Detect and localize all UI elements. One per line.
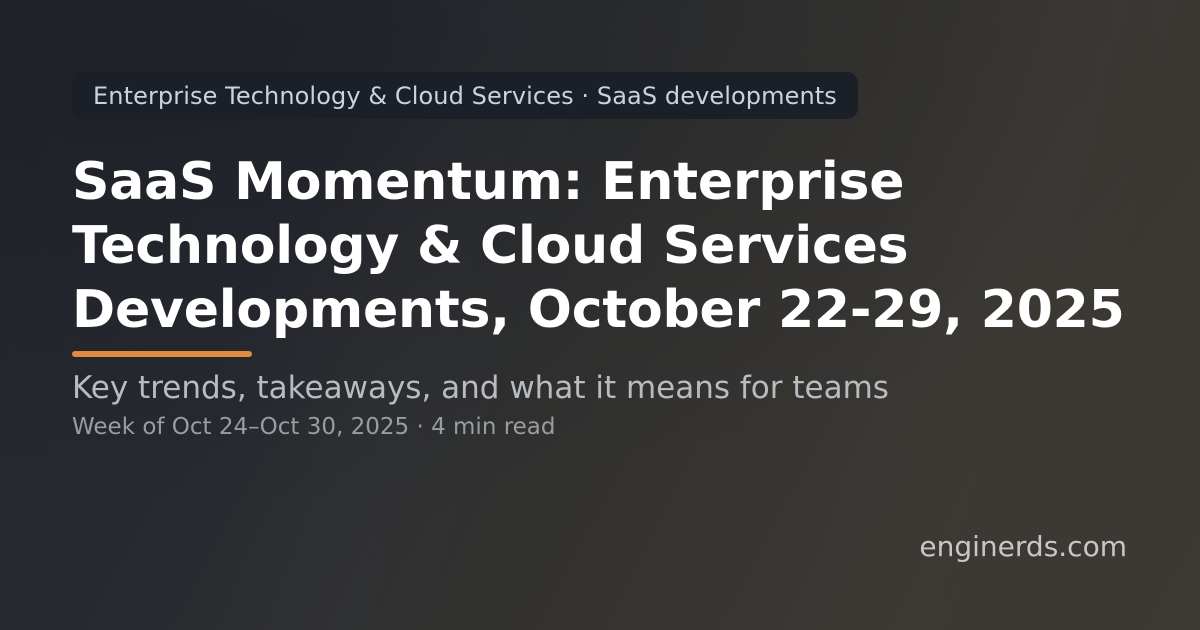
card-content: Enterprise Technology & Cloud Services ·… — [0, 0, 1200, 630]
social-share-card: Enterprise Technology & Cloud Services ·… — [0, 0, 1200, 630]
category-badge-label: Enterprise Technology & Cloud Services ·… — [93, 84, 837, 108]
accent-divider — [72, 351, 252, 357]
subtitle: Key trends, takeaways, and what it means… — [72, 368, 889, 408]
meta-line: Week of Oct 24–Oct 30, 2025 · 4 min read — [72, 411, 556, 443]
category-badge: Enterprise Technology & Cloud Services ·… — [72, 72, 858, 119]
page-title: SaaS Momentum: Enterprise Technology & C… — [72, 150, 1142, 342]
brand-domain: enginerds.com — [919, 529, 1127, 565]
